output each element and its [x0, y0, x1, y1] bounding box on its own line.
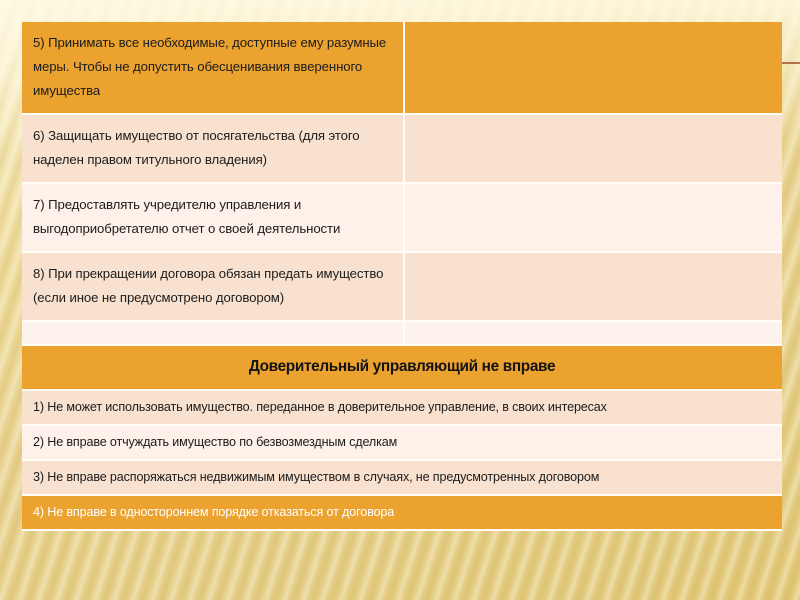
duty-cell: 7) Предоставлять учредителю управления и… — [22, 184, 403, 253]
restriction-text: 3) Не вправе распоряжаться недвижимым им… — [22, 461, 782, 494]
duty-cell: 6) Защищать имущество от посягательства … — [22, 115, 403, 184]
restriction-cell: 4) Не вправе в одностороннем порядке отк… — [22, 496, 782, 531]
list-item: 4) Не вправе в одностороннем порядке отк… — [22, 496, 782, 531]
restriction-text: 4) Не вправе в одностороннем порядке отк… — [22, 496, 782, 529]
list-item: 1) Не может использовать имущество. пере… — [22, 391, 782, 426]
duty-side-text — [405, 184, 782, 227]
table-spacer-row — [22, 322, 782, 346]
duty-side-cell — [403, 253, 782, 322]
duty-side-text — [405, 22, 782, 65]
restriction-cell: 1) Не может использовать имущество. пере… — [22, 391, 782, 426]
duty-text: 8) При прекращении договора обязан преда… — [22, 253, 403, 320]
table-body: 5) Принимать все необходимые, доступные … — [22, 22, 782, 531]
duty-cell: 5) Принимать все необходимые, доступные … — [22, 22, 403, 115]
duty-text: 5) Принимать все необходимые, доступные … — [22, 22, 403, 113]
list-item: 3) Не вправе распоряжаться недвижимым им… — [22, 461, 782, 496]
table-row: 7) Предоставлять учредителю управления и… — [22, 184, 782, 253]
duty-side-cell — [403, 115, 782, 184]
section-header-title: Доверительный управляющий не вправе — [22, 346, 782, 389]
section-header-cell: Доверительный управляющий не вправе — [22, 346, 782, 391]
duty-side-text — [405, 253, 782, 296]
restriction-cell: 3) Не вправе распоряжаться недвижимым им… — [22, 461, 782, 496]
list-item: 2) Не вправе отчуждать имущество по безв… — [22, 426, 782, 461]
duty-text: 7) Предоставлять учредителю управления и… — [22, 184, 403, 251]
duty-text: 6) Защищать имущество от посягательства … — [22, 115, 403, 182]
duty-side-text — [405, 115, 782, 158]
table-row: 8) При прекращении договора обязан преда… — [22, 253, 782, 322]
duty-cell: 8) При прекращении договора обязан преда… — [22, 253, 403, 322]
section-header-row: Доверительный управляющий не вправе — [22, 346, 782, 391]
spacer-cell — [403, 322, 782, 346]
restriction-text: 1) Не может использовать имущество. пере… — [22, 391, 782, 424]
duty-side-cell — [403, 22, 782, 115]
duty-side-cell — [403, 184, 782, 253]
restriction-cell: 2) Не вправе отчуждать имущество по безв… — [22, 426, 782, 461]
content-table: 5) Принимать все необходимые, доступные … — [22, 22, 782, 531]
restriction-text: 2) Не вправе отчуждать имущество по безв… — [22, 426, 782, 459]
spacer-cell — [22, 322, 403, 346]
table-row: 6) Защищать имущество от посягательства … — [22, 115, 782, 184]
table-row: 5) Принимать все необходимые, доступные … — [22, 22, 782, 115]
